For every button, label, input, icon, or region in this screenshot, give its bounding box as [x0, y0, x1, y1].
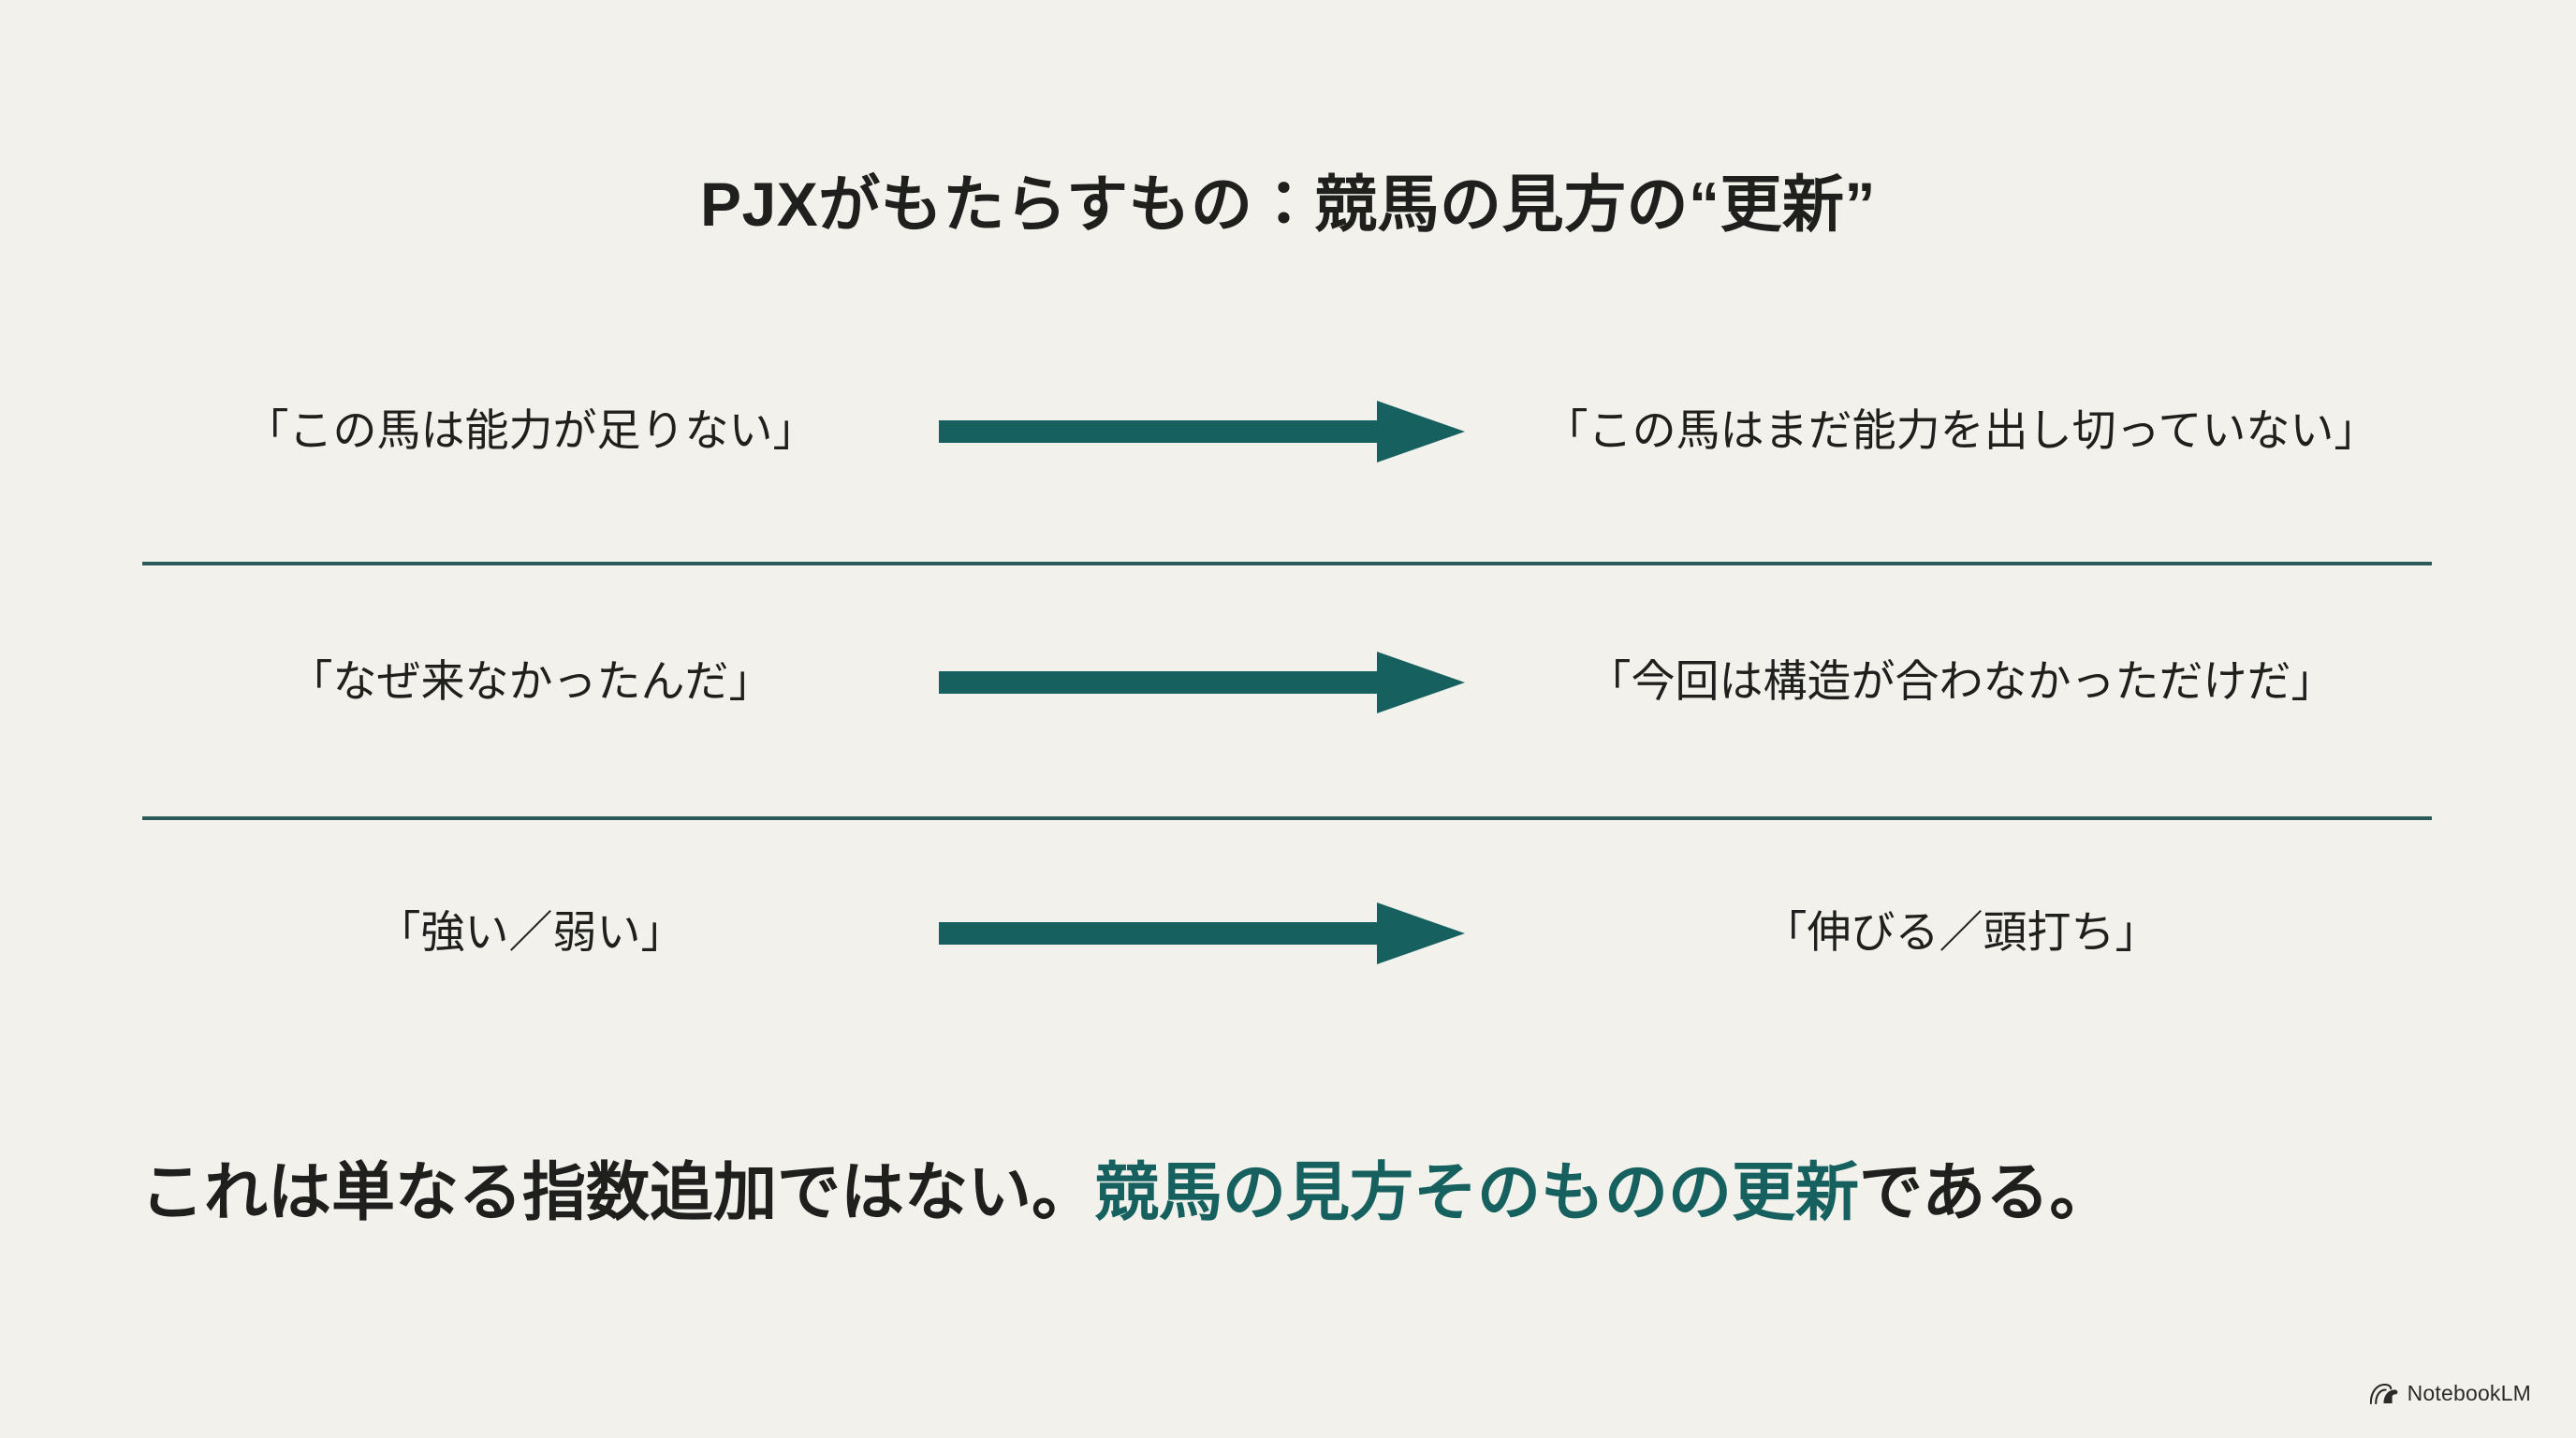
conclusion-tail: である。: [1859, 1157, 2113, 1228]
slide-canvas: PJXがもたらすもの：競馬の見方の“更新” 「この馬は能力が足りない」 「この馬…: [0, 0, 2576, 1438]
row-divider: [142, 562, 2432, 565]
row-before-text: 「強い／弱い」: [142, 867, 919, 998]
page-title: PJXがもたらすもの：競馬の見方の“更新”: [0, 168, 2576, 242]
row-after-text: 「今回は構造が合わなかっただけだ」: [1488, 616, 2434, 747]
notebooklm-wordmark: NotebookLM: [2408, 1383, 2531, 1404]
arrow-right-icon: [939, 401, 1465, 462]
row-before-text: 「この馬は能力が足りない」: [142, 365, 919, 496]
notebooklm-footer-logo: NotebookLM: [2370, 1383, 2531, 1404]
row-before-text: 「なぜ来なかったんだ」: [142, 616, 919, 747]
comparison-row: 「強い／弱い」 「伸びる／頭打ち」: [0, 867, 2576, 1118]
row-after-text: 「伸びる／頭打ち」: [1488, 867, 2434, 998]
row-after-text: 「この馬はまだ能力を出し切っていない」: [1488, 365, 2434, 496]
conclusion-lead: これは単なる指数追加ではない。: [140, 1157, 1095, 1228]
comparison-row: 「この馬は能力が足りない」 「この馬はまだ能力を出し切っていない」: [0, 365, 2576, 616]
arrow-right-icon: [939, 902, 1465, 964]
notebooklm-spiral-icon: [2370, 1384, 2398, 1404]
arrow-right-icon: [939, 652, 1465, 713]
conclusion-statement: これは単なる指数追加ではない。競馬の見方そのものの更新である。: [140, 1153, 2443, 1233]
comparison-rows: 「この馬は能力が足りない」 「この馬はまだ能力を出し切っていない」 「なぜ来なか…: [0, 365, 2576, 1118]
comparison-row: 「なぜ来なかったんだ」 「今回は構造が合わなかっただけだ」: [0, 616, 2576, 867]
conclusion-accent: 競馬の見方そのものの更新: [1095, 1157, 1859, 1228]
row-divider: [142, 816, 2432, 820]
